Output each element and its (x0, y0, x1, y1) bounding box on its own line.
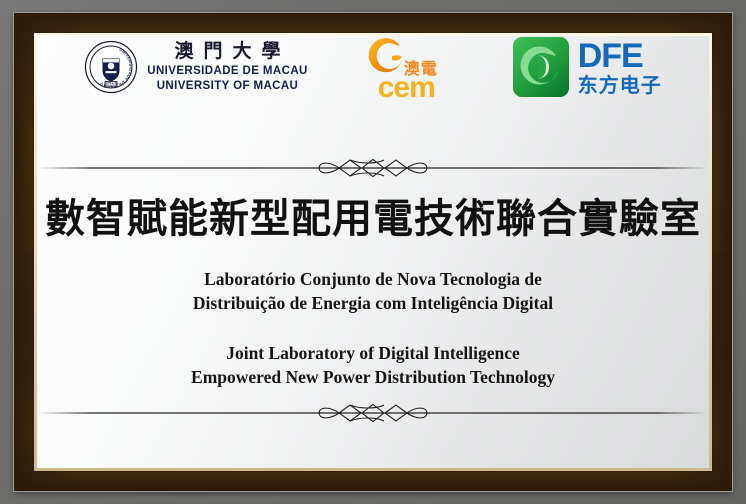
logo-cem: 澳電 cem (362, 31, 458, 103)
um-chinese-name: 澳門大學 (174, 42, 290, 61)
logo-university-of-macau: UNIVERSIDADE DE MACAU 澳門大學 澳門大學 UNIVERSI… (84, 40, 307, 94)
title-portuguese: Laboratório Conjunto de Nova Tecnologia … (0, 267, 746, 315)
title-english-line-2: Empowered New Power Distribution Technol… (0, 365, 746, 389)
plaque-scene: UNIVERSIDADE DE MACAU 澳門大學 澳門大學 UNIVERSI… (0, 0, 746, 504)
dfe-wordmark: DFE (578, 39, 662, 73)
cem-wordmark: cem (378, 71, 435, 105)
title-english-line-1: Joint Laboratory of Digital Intelligence (0, 341, 746, 365)
title-chinese: 數智賦能新型配用電技術聯合實驗室 (0, 199, 746, 239)
svg-text:澳門大學: 澳門大學 (104, 81, 118, 86)
dfe-chinese-name: 东方电子 (578, 76, 662, 96)
logo-row: UNIVERSIDADE DE MACAU 澳門大學 澳門大學 UNIVERSI… (0, 24, 746, 110)
um-portuguese-name: UNIVERSIDADE DE MACAU (147, 66, 307, 78)
dfe-text-block: DFE 东方电子 (578, 39, 662, 96)
divider-top (38, 155, 708, 181)
dfe-swirl-icon (512, 36, 570, 98)
title-portuguese-line-1: Laboratório Conjunto de Nova Tecnologia … (0, 267, 746, 291)
title-english: Joint Laboratory of Digital Intelligence… (0, 341, 746, 389)
um-english-name: UNIVERSITY OF MACAU (157, 81, 299, 93)
um-crest-icon: UNIVERSIDADE DE MACAU 澳門大學 (84, 40, 138, 94)
divider-bottom (38, 400, 708, 426)
um-text-block: 澳門大學 UNIVERSIDADE DE MACAU UNIVERSITY OF… (147, 42, 307, 92)
title-portuguese-line-2: Distribuição de Energia com Inteligência… (0, 291, 746, 315)
logo-dfe: DFE 东方电子 (512, 36, 662, 98)
